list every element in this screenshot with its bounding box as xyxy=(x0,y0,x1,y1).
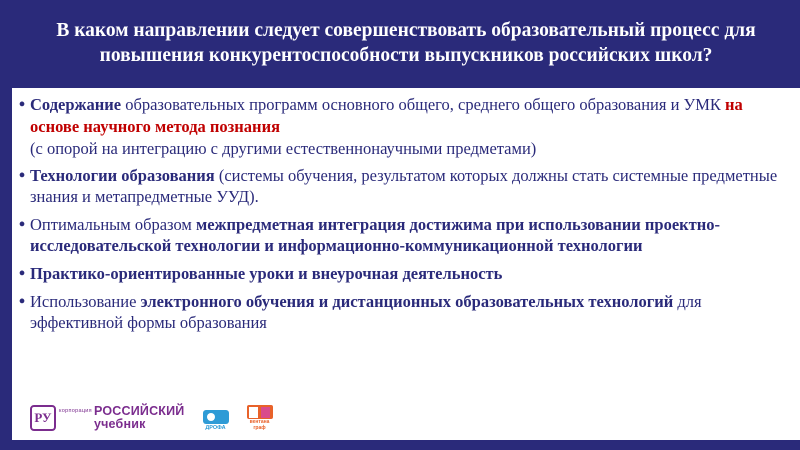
slide-canvas: В каком направлении следует совершенство… xyxy=(0,0,800,450)
rossiyskiy-uchebnik-logo: РУ корпорация РОССИЙСКИЙ учебник xyxy=(30,405,185,431)
bottom-accent-bar xyxy=(0,440,800,450)
drofa-bird-icon xyxy=(203,410,229,424)
list-item: • Использование электронного обучения и … xyxy=(14,291,786,334)
ventana-graf-mark-icon xyxy=(247,405,273,419)
corporation-label: корпорация xyxy=(59,408,92,414)
text-run: Оптимальным образом xyxy=(30,215,196,234)
brand-name-line2: учебник xyxy=(94,418,185,431)
text-run: (с опорой на интеграцию с другими естест… xyxy=(30,139,536,158)
logo-group: РУ корпорация РОССИЙСКИЙ учебник ДРОФА в… xyxy=(30,405,277,431)
list-item-text: Содержание образовательных программ осно… xyxy=(30,94,786,137)
list-item-text: Использование электронного обучения и ди… xyxy=(30,291,786,334)
list-item-text: (с опорой на интеграцию с другими естест… xyxy=(30,138,786,160)
list-item-text: Практико-ориентированные уроки и внеуроч… xyxy=(30,263,786,285)
text-run: Практико-ориентированные уроки и внеуроч… xyxy=(30,264,502,283)
drofa-logo: ДРОФА xyxy=(201,405,231,431)
list-item: • Технологии образования (системы обучен… xyxy=(14,165,786,208)
bullet-marker: • xyxy=(14,263,30,285)
slide-title: В каком направлении следует совершенство… xyxy=(16,18,796,68)
bullet-marker: • xyxy=(14,214,30,236)
text-run: образовательных программ основного общег… xyxy=(125,95,725,114)
list-item-text: Оптимальным образом межпредметная интегр… xyxy=(30,214,786,257)
bullet-marker: • xyxy=(14,165,30,187)
vg-caption-line2: граф xyxy=(253,425,265,431)
brand-name: РОССИЙСКИЙ учебник xyxy=(94,405,185,431)
drofa-caption: ДРОФА xyxy=(205,425,225,431)
text-run: Содержание xyxy=(30,95,125,114)
list-item: • Содержание образовательных программ ос… xyxy=(14,94,786,137)
bullet-marker: • xyxy=(14,94,30,116)
text-run: Использование xyxy=(30,292,141,311)
ventana-graf-logo: вентанаграф xyxy=(243,405,277,431)
list-item-text: Технологии образования (системы обучения… xyxy=(30,165,786,208)
list-item: • Оптимальным образом межпредметная инте… xyxy=(14,214,786,257)
left-accent-bar xyxy=(0,0,12,450)
bullet-marker: • xyxy=(14,291,30,313)
list-item: • Практико-ориентированные уроки и внеур… xyxy=(14,263,786,285)
text-run: электронного обучения и дистанционных об… xyxy=(141,292,678,311)
ventana-graf-caption: вентанаграф xyxy=(250,420,270,431)
slide-body-list: • Содержание образовательных программ ос… xyxy=(14,94,786,335)
ru-monogram-icon: РУ xyxy=(30,405,56,431)
text-run: Технологии образования xyxy=(30,166,219,185)
list-item: (с опорой на интеграцию с другими естест… xyxy=(14,138,786,160)
slide-title-block: В каком направлении следует совершенство… xyxy=(12,0,800,88)
